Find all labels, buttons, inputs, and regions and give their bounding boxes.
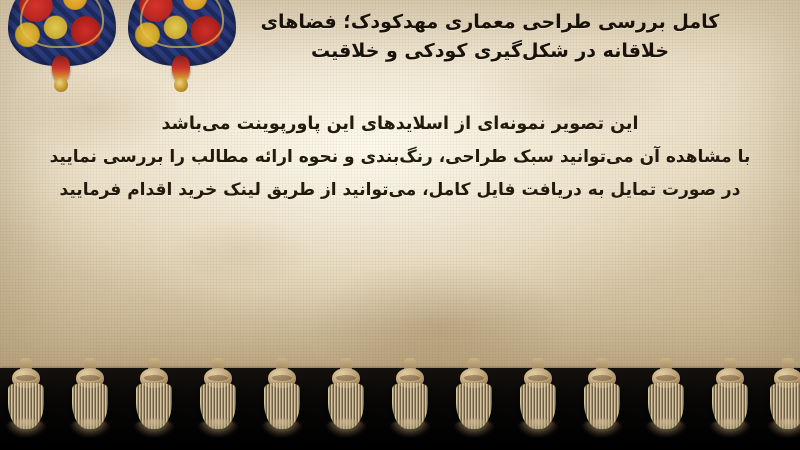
suzani-medallion-right-icon xyxy=(128,0,236,94)
slide-title-line-1: کامل بررسی طراحی معماری مهدکودک؛ فضاهای xyxy=(250,8,730,37)
slide-canvas: کامل بررسی طراحی معماری مهدکودک؛ فضاهای … xyxy=(0,0,800,450)
body-line-1: این تصویر نمونه‌ای از اسلایدهای این پاور… xyxy=(40,108,760,141)
slide-title: کامل بررسی طراحی معماری مهدکودک؛ فضاهای … xyxy=(250,8,730,67)
body-line-2: با مشاهده آن می‌توانید سبک طراحی، رنگ‌بن… xyxy=(40,141,760,173)
slide-title-line-2: خلاقانه در شکل‌گیری کودکی و خلاقیت xyxy=(250,37,730,66)
tassel-fringe-icon xyxy=(0,364,800,450)
slide-body: این تصویر نمونه‌ای از اسلایدهای این پاور… xyxy=(40,108,760,206)
medallion-tail xyxy=(172,56,190,82)
body-line-3: در صورت تمایل به دریافت فایل کامل، می‌تو… xyxy=(40,174,760,206)
suzani-medallion-left-icon xyxy=(8,0,116,94)
medallion-tail xyxy=(52,56,70,82)
